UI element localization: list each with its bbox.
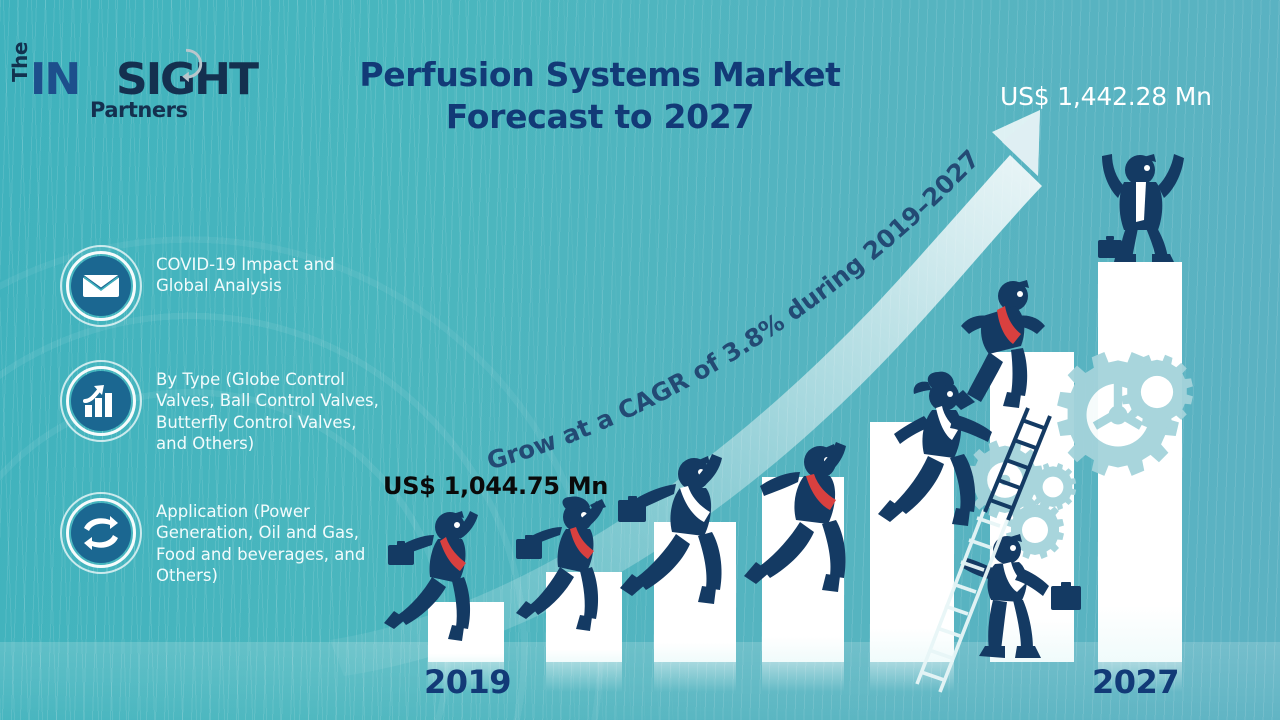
envelope-icon [60,245,142,327]
feature-item-application[interactable]: Application (Power Generation, Oil and G… [60,492,388,587]
logo-partners-text: Partners [90,100,187,121]
icon-disc [71,371,131,431]
bar-2024[interactable] [990,352,1074,662]
bar-2023[interactable] [870,422,954,662]
bar-shadow [546,662,622,692]
year-label-start: 2019 [424,666,511,698]
feature-label: COVID-19 Impact and Global Analysis [156,254,388,297]
page-title: Perfusion Systems Market Forecast to 202… [250,54,950,137]
swoosh-icon [167,46,205,86]
bar-shadow [762,662,844,692]
logo-the-text: The [10,42,30,82]
background-floor [0,642,1280,720]
feature-label: By Type (Globe Control Valves, Ball Cont… [156,369,388,455]
exchange-arrows-icon [60,492,142,574]
year-label-end: 2027 [1092,666,1179,698]
feature-item-covid-impact[interactable]: COVID-19 Impact and Global Analysis [60,245,388,327]
bar-2020[interactable] [546,572,622,662]
start-value-label: US$ 1,044.75 Mn [383,474,608,498]
bar-shadow [870,662,954,692]
infographic-canvas: The IN SIGHT Partners Perfusion Systems … [0,0,1280,720]
icon-disc [71,503,131,563]
page-title-line2: Forecast to 2027 [250,96,950,138]
page-title-line1: Perfusion Systems Market [250,54,950,96]
company-logo[interactable]: The IN SIGHT Partners [4,38,214,120]
bar-2019[interactable] [428,602,504,662]
feature-item-by-type[interactable]: By Type (Globe Control Valves, Ball Cont… [60,360,388,455]
bar-2022[interactable] [762,477,844,662]
bar-2027[interactable] [1098,262,1182,662]
growth-chart-icon [60,360,142,442]
bar-2021[interactable] [654,522,736,662]
end-value-label: US$ 1,442.28 Mn [1000,84,1212,109]
bar-shadow [654,662,736,692]
feature-label: Application (Power Generation, Oil and G… [156,501,388,587]
icon-disc [71,256,131,316]
logo-insight-in: IN [30,58,79,102]
